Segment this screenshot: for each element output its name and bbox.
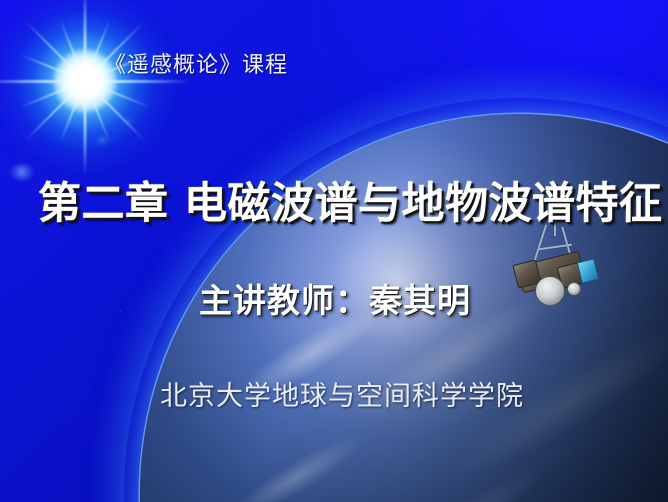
instructor-label: 主讲教师：秦其明 [199,283,471,319]
affiliation-label: 北京大学地球与空间科学学院 [160,382,524,412]
slide-text-layer: 《遥感概论》课程 第二章 电磁波谱与地物波谱特征 主讲教师：秦其明 北京大学地球… [0,0,668,502]
presentation-slide: 《遥感概论》课程 第二章 电磁波谱与地物波谱特征 主讲教师：秦其明 北京大学地球… [0,0,668,502]
course-label: 《遥感概论》课程 [104,52,288,80]
page-title: 第二章 电磁波谱与地物波谱特征 [38,182,662,227]
